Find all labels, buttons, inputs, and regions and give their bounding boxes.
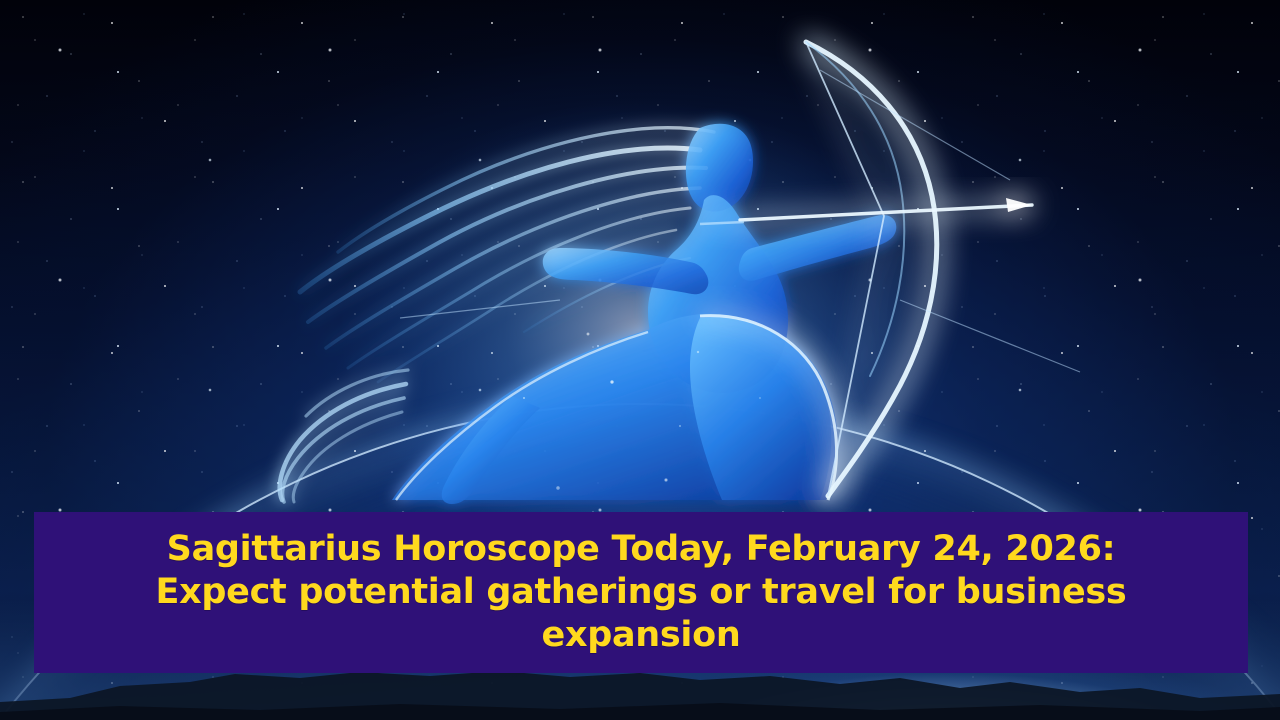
- rocky-planet-surface: [0, 668, 1280, 720]
- headline-line-3: expansion: [52, 614, 1230, 657]
- headline-line-2: Expect potential gatherings or travel fo…: [52, 571, 1230, 614]
- hero-image-canvas: Sagittarius Horoscope Today, February 24…: [0, 0, 1280, 720]
- particle-sparkles: [400, 230, 820, 530]
- headline-banner: Sagittarius Horoscope Today, February 24…: [34, 512, 1248, 673]
- page-title: Sagittarius Horoscope Today, February 24…: [34, 528, 1248, 657]
- headline-line-1: Sagittarius Horoscope Today, February 24…: [52, 528, 1230, 571]
